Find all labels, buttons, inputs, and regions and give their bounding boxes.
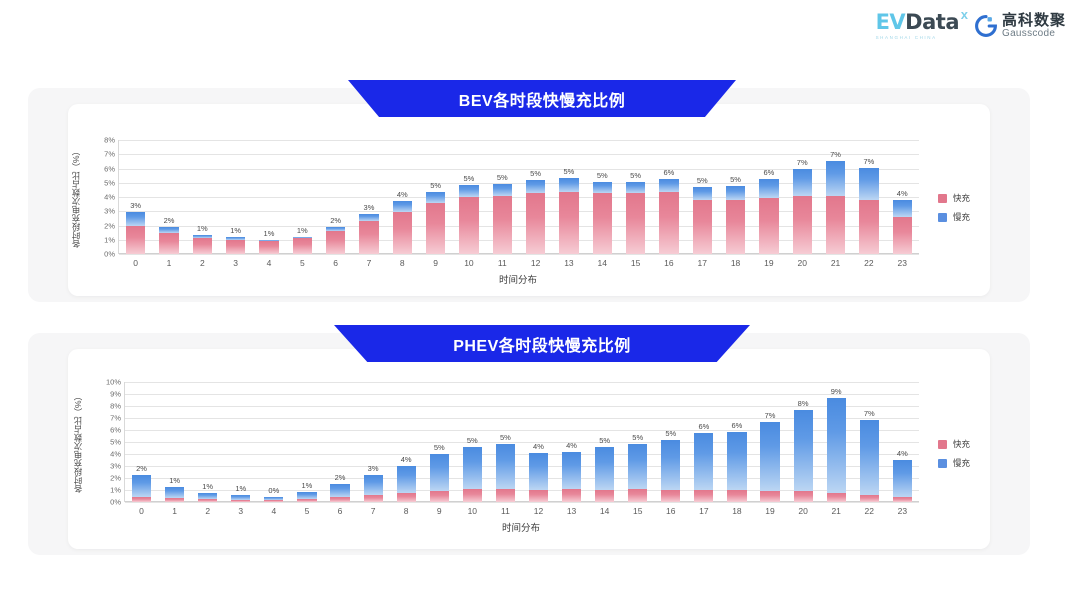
stacked-bar[interactable]: 5% [496, 444, 515, 502]
bar-segment-slow [297, 492, 316, 499]
bar-value-label: 4% [401, 455, 412, 464]
stacked-bar[interactable]: 9% [827, 398, 846, 502]
bar-segment-slow [827, 398, 846, 493]
y-axis-tick: 2% [110, 474, 121, 483]
x-axis-tick: 5 [290, 506, 323, 516]
bar-value-label: 4% [397, 190, 408, 199]
bar-segment-slow [364, 475, 383, 495]
bar-column[interactable]: 4%8 [386, 140, 419, 254]
bar-value-label: 3% [364, 203, 375, 212]
stacked-bar[interactable]: 4% [529, 453, 548, 502]
bar-segment-slow [330, 484, 349, 497]
bar-segment-slow [860, 420, 879, 495]
stacked-bar[interactable]: 6% [727, 432, 746, 502]
bar-value-label: 5% [530, 169, 541, 178]
bar-segment-fast [198, 499, 217, 502]
bar-column[interactable]: 5%17 [686, 140, 719, 254]
bar-segment-slow [727, 432, 746, 490]
bar-value-label: 7% [797, 158, 808, 167]
bar-segment-slow [526, 180, 545, 193]
stacked-bar[interactable]: 4% [397, 466, 416, 502]
plot-area: 0%1%2%3%4%5%6%7%8%9%10%2%01%11%21%30%41%… [124, 382, 919, 502]
x-axis-tick: 14 [588, 506, 621, 516]
bar-value-label: 5% [434, 443, 445, 452]
bar-segment-fast [226, 240, 245, 254]
gausscode-mark-icon [975, 15, 997, 37]
x-axis-tick: 12 [522, 506, 555, 516]
evdata-tagline: SHANGHAI CHINA [876, 35, 937, 40]
bar-value-label: 5% [564, 167, 575, 176]
stacked-bar[interactable]: 5% [626, 182, 645, 254]
bar-column[interactable]: 1%5 [286, 140, 319, 254]
stacked-bar[interactable]: 7% [793, 169, 812, 254]
bar-column[interactable]: 7%22 [852, 140, 885, 254]
stacked-bar[interactable]: 8% [794, 410, 813, 502]
bar-segment-slow [595, 447, 614, 490]
stacked-bar[interactable]: 5% [463, 447, 482, 502]
y-axis-tick: 8% [104, 136, 115, 145]
stacked-bar[interactable]: 2% [326, 227, 345, 254]
stacked-bar[interactable]: 3% [364, 475, 383, 502]
bar-segment-slow [626, 182, 645, 193]
stacked-bar[interactable]: 2% [330, 484, 349, 502]
y-axis-tick: 3% [110, 462, 121, 471]
y-axis-tick: 2% [104, 221, 115, 230]
bar-value-label: 2% [335, 473, 346, 482]
bar-segment-fast [760, 491, 779, 502]
bar-value-label: 7% [830, 150, 841, 159]
bar-segment-fast [459, 197, 478, 254]
bar-value-label: 8% [798, 399, 809, 408]
bar-segment-fast [364, 495, 383, 502]
x-axis-tick: 12 [519, 258, 552, 268]
bar-value-label: 7% [765, 411, 776, 420]
bar-column[interactable]: 5%18 [719, 140, 752, 254]
bar-segment-fast [859, 200, 878, 254]
bar-segment-fast [159, 233, 178, 254]
y-axis-title: 各时段充电次数占比（%） [72, 382, 84, 502]
x-axis-tick: 11 [489, 506, 522, 516]
bar-segment-fast [326, 231, 345, 254]
bar-value-label: 5% [697, 176, 708, 185]
bar-segment-slow [694, 433, 713, 490]
bev-chart: 0%1%2%3%4%5%6%7%8%3%02%11%21%31%41%52%63… [118, 140, 918, 288]
bar-column[interactable]: 7%22 [853, 382, 886, 502]
bar-segment-fast [659, 192, 678, 254]
stacked-bar[interactable]: 5% [593, 182, 612, 254]
x-axis-tick: 1 [158, 506, 191, 516]
bar-segment-fast [426, 203, 445, 254]
bar-segment-slow [759, 179, 778, 198]
bar-value-label: 5% [630, 171, 641, 180]
x-axis-tick: 16 [652, 258, 685, 268]
x-axis-tick: 18 [719, 258, 752, 268]
bar-column[interactable]: 5%10 [456, 382, 489, 502]
bar-column[interactable]: 5%16 [654, 382, 687, 502]
bar-segment-fast [132, 497, 151, 502]
bar-column[interactable]: 1%1 [158, 382, 191, 502]
bar-column[interactable]: 6%16 [652, 140, 685, 254]
stacked-bar[interactable]: 5% [726, 186, 745, 254]
bar-column[interactable]: 5%12 [519, 140, 552, 254]
phev-legend: 快充 慢充 [938, 438, 970, 469]
stacked-bar[interactable]: 2% [132, 475, 151, 502]
gridline [125, 502, 919, 503]
bar-segment-fast [393, 212, 412, 254]
x-axis-tick: 21 [820, 506, 853, 516]
bar-segment-slow [760, 422, 779, 491]
stacked-bar[interactable]: 1% [193, 235, 212, 254]
y-axis-tick: 5% [104, 178, 115, 187]
legend-label-fast: 快充 [953, 438, 970, 450]
gausscode-cn: 高科数聚 [1002, 13, 1066, 29]
bar-value-label: 4% [897, 189, 908, 198]
bar-column[interactable]: 5%10 [452, 140, 485, 254]
bar-segment-fast [493, 196, 512, 254]
x-axis-tick: 18 [720, 506, 753, 516]
page-header: EVData x SHANGHAI CHINA 高科数聚 Gausscode [0, 0, 1080, 62]
bar-value-label: 7% [863, 157, 874, 166]
y-axis-tick: 3% [104, 207, 115, 216]
bar-column[interactable]: 1%5 [290, 382, 323, 502]
legend-label-slow: 慢充 [953, 457, 970, 469]
bar-value-label: 3% [130, 201, 141, 210]
bar-segment-slow [393, 201, 412, 212]
evdata-wordmark: EVData [876, 12, 959, 33]
bar-segment-slow [463, 447, 482, 490]
stacked-bar[interactable]: 5% [595, 447, 614, 502]
x-axis-tick: 16 [654, 506, 687, 516]
bar-segment-slow [430, 454, 449, 491]
x-axis-tick: 4 [252, 258, 285, 268]
legend-swatch-fast [938, 440, 947, 449]
x-axis-tick: 6 [319, 258, 352, 268]
bar-segment-fast [661, 490, 680, 502]
bar-column[interactable]: 4%8 [390, 382, 423, 502]
bar-segment-fast [463, 489, 482, 502]
bar-segment-fast [231, 500, 250, 502]
bar-segment-slow [562, 452, 581, 490]
gausscode-en: Gausscode [1002, 28, 1066, 39]
stacked-bar[interactable]: 1% [259, 240, 278, 254]
x-axis-tick: 15 [619, 258, 652, 268]
bar-column[interactable]: 7%19 [753, 382, 786, 502]
bar-value-label: 1% [202, 482, 213, 491]
logo-group: EVData x SHANGHAI CHINA 高科数聚 Gausscode [876, 12, 1066, 40]
bar-segment-fast [626, 193, 645, 254]
bar-column[interactable]: 2%6 [319, 140, 352, 254]
bar-value-label: 5% [500, 433, 511, 442]
bar-column[interactable]: 4%23 [886, 140, 919, 254]
bar-column[interactable]: 7%21 [819, 140, 852, 254]
bar-segment-slow [132, 475, 151, 497]
stacked-bar[interactable]: 7% [859, 168, 878, 254]
x-axis-tick: 23 [886, 258, 919, 268]
y-axis-tick: 1% [110, 486, 121, 495]
bar-value-label: 1% [169, 476, 180, 485]
evdata-x-icon: x [961, 7, 968, 22]
bar-segment-slow [893, 200, 912, 217]
x-axis-tick: 22 [853, 506, 886, 516]
x-axis-tick: 21 [819, 258, 852, 268]
bar-value-label: 2% [164, 216, 175, 225]
bar-segment-slow [859, 168, 878, 199]
stacked-bar[interactable]: 1% [231, 495, 250, 502]
bar-column[interactable]: 5%14 [588, 382, 621, 502]
bar-value-label: 5% [430, 181, 441, 190]
stacked-bar[interactable]: 6% [659, 179, 678, 254]
x-axis-tick: 5 [286, 258, 319, 268]
bar-segment-fast [126, 226, 145, 254]
bar-segment-fast [193, 238, 212, 254]
bar-column[interactable]: 1%3 [224, 382, 257, 502]
bev-legend: 快充 慢充 [938, 192, 970, 223]
bar-segment-fast [726, 200, 745, 254]
x-axis-tick: 22 [852, 258, 885, 268]
bar-column[interactable]: 2%0 [125, 382, 158, 502]
y-axis-tick: 8% [110, 402, 121, 411]
bar-column[interactable]: 5%11 [486, 140, 519, 254]
bar-segment-fast [297, 499, 316, 502]
bar-column[interactable]: 5%14 [586, 140, 619, 254]
bar-value-label: 4% [533, 442, 544, 451]
stacked-bar[interactable]: 5% [459, 185, 478, 254]
bar-value-label: 5% [599, 436, 610, 445]
gausscode-text: 高科数聚 Gausscode [1002, 13, 1066, 40]
stacked-bar[interactable]: 5% [628, 444, 647, 502]
x-axis-tick: 7 [357, 506, 390, 516]
x-axis-tick: 4 [257, 506, 290, 516]
bar-column[interactable]: 1%3 [219, 140, 252, 254]
stacked-bar[interactable]: 5% [426, 192, 445, 254]
bar-value-label: 5% [464, 174, 475, 183]
bar-column[interactable]: 5%13 [552, 140, 585, 254]
bar-segment-slow [529, 453, 548, 490]
legend-item-fast: 快充 [938, 192, 970, 204]
bar-value-label: 4% [897, 449, 908, 458]
bar-column[interactable]: 5%9 [423, 382, 456, 502]
stacked-bar[interactable]: 6% [694, 433, 713, 502]
bar-segment-fast [496, 489, 515, 502]
bar-value-label: 9% [831, 387, 842, 396]
stacked-bar[interactable]: 4% [893, 460, 912, 502]
stacked-bar[interactable]: 3% [126, 212, 145, 254]
x-axis-tick: 0 [125, 506, 158, 516]
evdata-logo: EVData x SHANGHAI CHINA [876, 12, 959, 40]
x-axis-tick: 11 [486, 258, 519, 268]
x-axis-tick: 0 [119, 258, 152, 268]
bar-segment-fast [330, 497, 349, 502]
bar-value-label: 1% [230, 226, 241, 235]
bar-column[interactable]: 5%11 [489, 382, 522, 502]
bar-value-label: 2% [136, 464, 147, 473]
legend-label-slow: 慢充 [953, 211, 970, 223]
bar-segment-slow [893, 460, 912, 497]
bar-value-label: 5% [665, 429, 676, 438]
y-axis-tick: 0% [110, 498, 121, 507]
evdata-prefix: EV [876, 10, 906, 34]
bar-segment-fast [759, 198, 778, 254]
bar-segment-slow [593, 182, 612, 193]
bar-segment-fast [826, 196, 845, 254]
bar-segment-fast [259, 241, 278, 254]
x-axis-title: 时间分布 [118, 272, 918, 286]
stacked-bar[interactable]: 4% [562, 452, 581, 502]
bar-column[interactable]: 6%17 [687, 382, 720, 502]
bar-value-label: 5% [467, 436, 478, 445]
bar-column[interactable]: 3%0 [119, 140, 152, 254]
bar-column[interactable]: 2%1 [152, 140, 185, 254]
x-axis-tick: 1 [152, 258, 185, 268]
x-axis-tick: 10 [452, 258, 485, 268]
stacked-bar[interactable]: 5% [526, 180, 545, 254]
x-axis-tick: 17 [687, 506, 720, 516]
x-axis-tick: 13 [552, 258, 585, 268]
bar-column[interactable]: 0%4 [257, 382, 290, 502]
bar-column[interactable]: 5%9 [419, 140, 452, 254]
y-axis-tick: 9% [110, 390, 121, 399]
bar-column[interactable]: 3%7 [357, 382, 390, 502]
bar-column[interactable]: 7%20 [786, 140, 819, 254]
stacked-bar[interactable]: 7% [826, 161, 845, 254]
legend-swatch-slow [938, 459, 947, 468]
y-axis-tick: 6% [110, 426, 121, 435]
legend-swatch-slow [938, 213, 947, 222]
stacked-bar[interactable]: 3% [359, 214, 378, 254]
stacked-bar[interactable]: 7% [860, 420, 879, 502]
legend-item-slow: 慢充 [938, 211, 970, 223]
bar-column[interactable]: 5%15 [619, 140, 652, 254]
bar-segment-fast [264, 500, 283, 502]
bar-segment-fast [628, 489, 647, 502]
x-axis-tick: 17 [686, 258, 719, 268]
bar-column[interactable]: 4%12 [522, 382, 555, 502]
bar-column[interactable]: 1%2 [186, 140, 219, 254]
stacked-bar[interactable]: 1% [297, 492, 316, 502]
x-axis-tick: 2 [186, 258, 219, 268]
x-axis-tick: 7 [352, 258, 385, 268]
bar-value-label: 5% [497, 173, 508, 182]
stacked-bar[interactable]: 5% [661, 440, 680, 502]
bar-segment-slow [628, 444, 647, 489]
bar-segment-fast [893, 497, 912, 502]
bar-column[interactable]: 8%20 [787, 382, 820, 502]
bar-segment-slow [559, 178, 578, 192]
stacked-bar[interactable]: 5% [693, 187, 712, 254]
bar-value-label: 1% [235, 484, 246, 493]
bar-value-label: 4% [566, 441, 577, 450]
y-axis-tick: 5% [110, 438, 121, 447]
bar-segment-fast [794, 491, 813, 502]
bar-column[interactable]: 9%21 [820, 382, 853, 502]
bar-segment-fast [165, 498, 184, 502]
stacked-bar[interactable]: 4% [393, 201, 412, 254]
x-axis-tick: 19 [753, 506, 786, 516]
bar-segment-fast [693, 200, 712, 254]
bar-segment-fast [593, 193, 612, 254]
bar-segment-fast [526, 193, 545, 254]
stacked-bar[interactable]: 1% [198, 493, 217, 502]
bar-column[interactable]: 1%4 [252, 140, 285, 254]
bar-column[interactable]: 5%15 [621, 382, 654, 502]
gausscode-logo: 高科数聚 Gausscode [975, 13, 1066, 40]
x-axis-tick: 8 [390, 506, 423, 516]
x-axis-tick: 10 [456, 506, 489, 516]
bar-column[interactable]: 4%23 [886, 382, 919, 502]
stacked-bar[interactable]: 1% [226, 237, 245, 254]
x-axis-title: 时间分布 [124, 520, 918, 534]
stacked-bar[interactable]: 7% [760, 422, 779, 502]
stacked-bar[interactable]: 5% [559, 178, 578, 254]
x-axis-tick: 14 [586, 258, 619, 268]
bar-segment-fast [893, 217, 912, 254]
bar-group: 2%01%11%21%30%41%52%63%74%85%95%105%114%… [125, 382, 919, 502]
bar-value-label: 7% [864, 409, 875, 418]
y-axis-tick: 1% [104, 235, 115, 244]
bar-value-label: 1% [197, 224, 208, 233]
x-axis-tick: 6 [323, 506, 356, 516]
stacked-bar[interactable]: 5% [430, 454, 449, 502]
bar-segment-slow [659, 179, 678, 192]
x-axis-tick: 3 [219, 258, 252, 268]
bar-column[interactable]: 6%18 [720, 382, 753, 502]
bar-segment-fast [793, 196, 812, 254]
bar-segment-fast [694, 490, 713, 502]
legend-item-fast: 快充 [938, 438, 970, 450]
stacked-bar[interactable]: 1% [165, 487, 184, 502]
bar-column[interactable]: 2%6 [323, 382, 356, 502]
y-axis-tick: 4% [110, 450, 121, 459]
bar-segment-fast [559, 192, 578, 254]
legend-label-fast: 快充 [953, 192, 970, 204]
stacked-bar[interactable]: 2% [159, 227, 178, 254]
bar-segment-fast [595, 490, 614, 502]
stacked-bar[interactable]: 1% [293, 237, 312, 254]
bar-column[interactable]: 3%7 [352, 140, 385, 254]
bar-value-label: 1% [302, 481, 313, 490]
bar-value-label: 3% [368, 464, 379, 473]
stacked-bar[interactable]: 6% [759, 179, 778, 254]
bar-segment-slow [693, 187, 712, 200]
x-axis-tick: 13 [555, 506, 588, 516]
bar-value-label: 0% [268, 486, 279, 495]
bar-segment-fast [359, 221, 378, 254]
bar-segment-fast [430, 491, 449, 502]
bar-segment-slow [496, 444, 515, 488]
bar-segment-slow [794, 410, 813, 492]
stacked-bar[interactable]: 5% [493, 184, 512, 254]
bar-column[interactable]: 4%13 [555, 382, 588, 502]
y-axis-title: 各时段充电次数占比（%） [70, 140, 82, 254]
stacked-bar[interactable]: 4% [893, 200, 912, 254]
stacked-bar[interactable]: 0% [264, 497, 283, 502]
bar-column[interactable]: 1%2 [191, 382, 224, 502]
bar-column[interactable]: 6%19 [752, 140, 785, 254]
x-axis-tick: 3 [224, 506, 257, 516]
legend-swatch-fast [938, 194, 947, 203]
bar-value-label: 6% [698, 422, 709, 431]
phev-chart: 0%1%2%3%4%5%6%7%8%9%10%2%01%11%21%30%41%… [124, 382, 918, 536]
bar-group: 3%02%11%21%31%41%52%63%74%85%95%105%115%… [119, 140, 919, 254]
bar-value-label: 1% [297, 226, 308, 235]
x-axis-tick: 8 [386, 258, 419, 268]
bar-value-label: 6% [763, 168, 774, 177]
y-axis-tick: 7% [104, 150, 115, 159]
bar-segment-slow [165, 487, 184, 498]
x-axis-tick: 20 [786, 258, 819, 268]
y-axis-tick: 0% [104, 250, 115, 259]
x-axis-tick: 15 [621, 506, 654, 516]
